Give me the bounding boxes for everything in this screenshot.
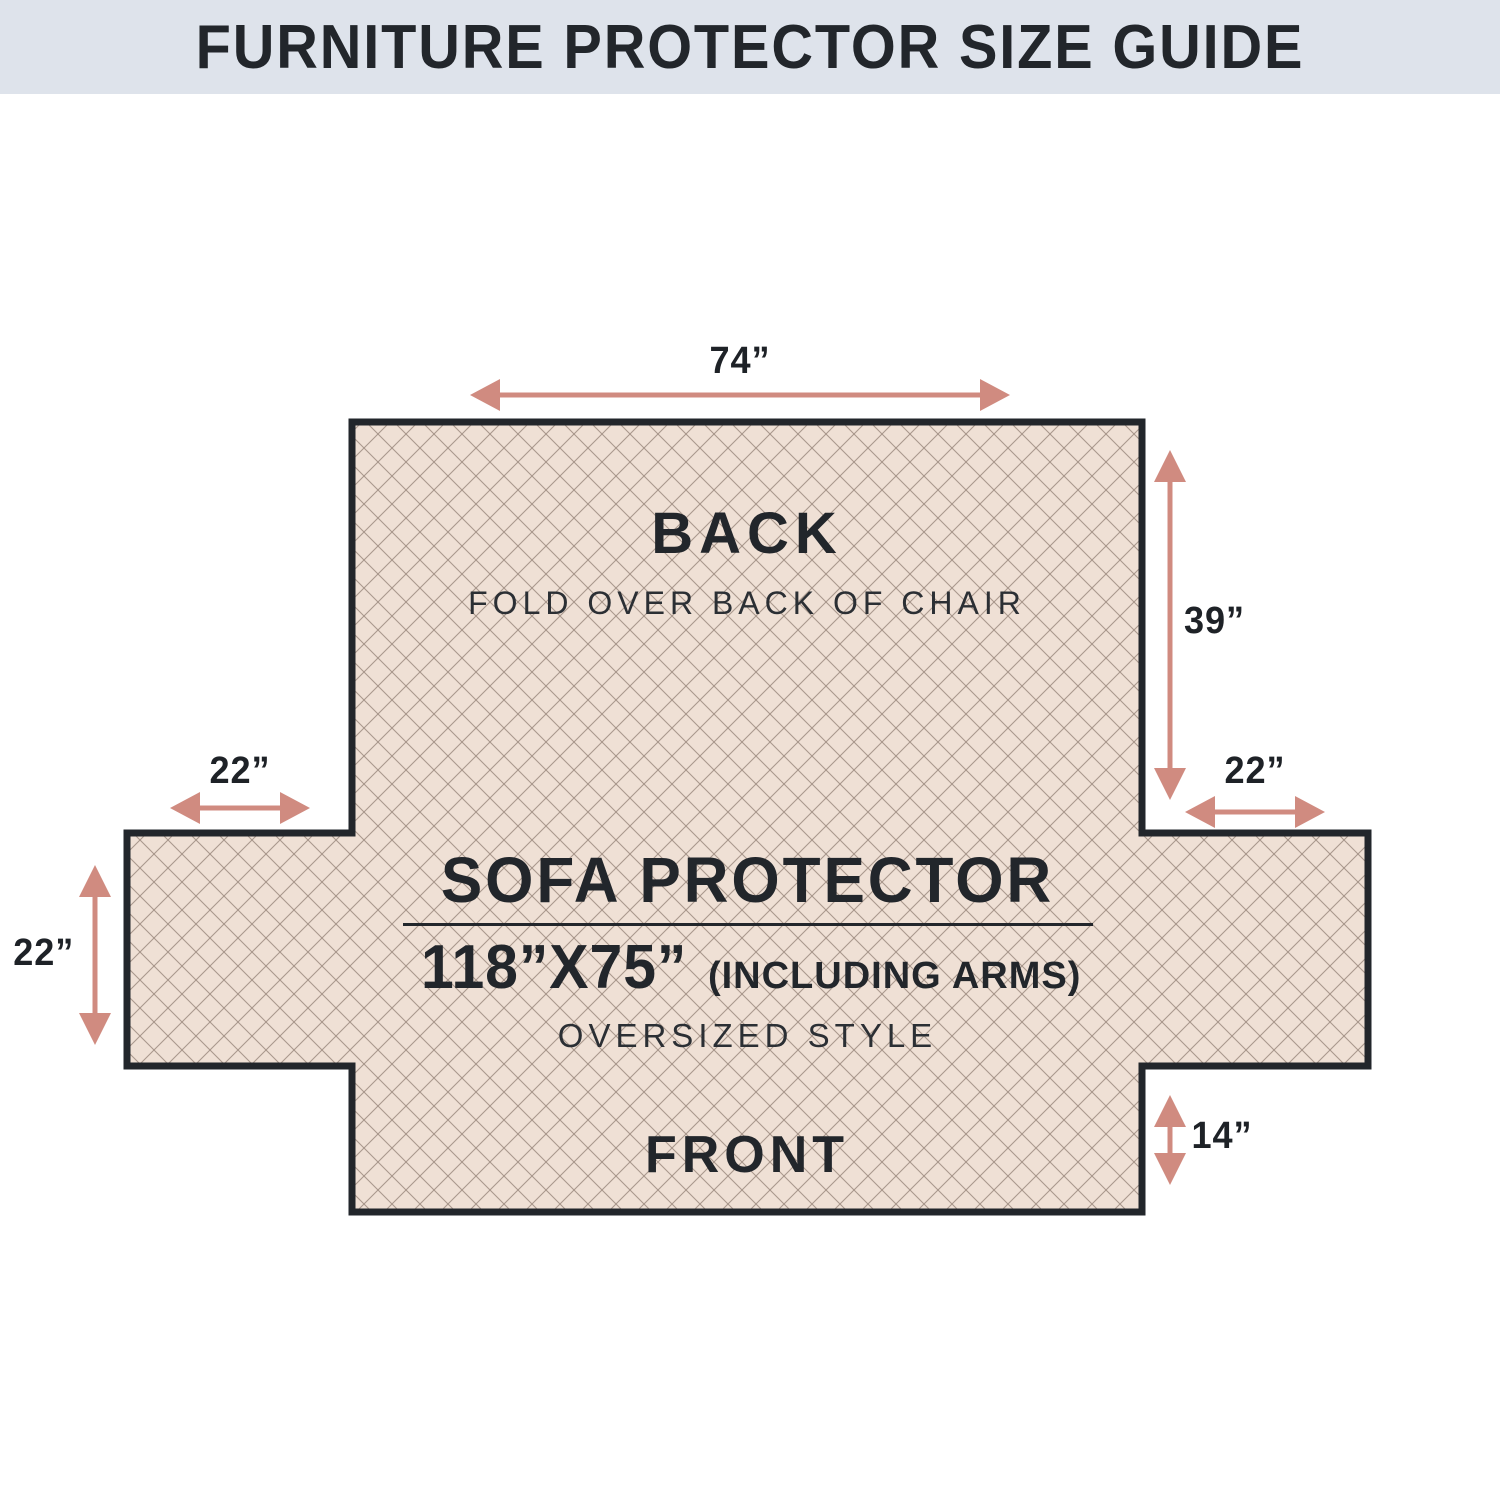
title-divider bbox=[403, 923, 1093, 926]
product-dimensions: 118”X75” bbox=[421, 932, 687, 1003]
protector-diagram: BACK FOLD OVER BACK OF CHAIR SOFA PROTEC… bbox=[0, 0, 1500, 1500]
center-panel-text: SOFA PROTECTOR 118”X75” (INCLUDING ARMS)… bbox=[127, 848, 1368, 1055]
dimension-label-arm-depth-left: 22” bbox=[13, 932, 137, 975]
dimension-label-back-height: 39” bbox=[1184, 600, 1336, 643]
product-name: SOFA PROTECTOR bbox=[146, 848, 1350, 913]
front-panel-heading: FRONT bbox=[352, 1125, 1142, 1185]
arrow-14 bbox=[1154, 1095, 1186, 1185]
product-style: OVERSIZED STYLE bbox=[127, 1017, 1368, 1055]
dimension-label-back-width: 74” bbox=[645, 340, 835, 383]
arrow-22-top-left bbox=[170, 792, 310, 824]
dimensions-note: (INCLUDING ARMS) bbox=[708, 955, 1081, 998]
arrow-74 bbox=[470, 379, 1010, 411]
arrow-39 bbox=[1154, 450, 1186, 800]
arrow-22-top-right bbox=[1185, 796, 1325, 828]
dimensions-line: 118”X75” (INCLUDING ARMS) bbox=[127, 932, 1368, 1003]
dimension-label-arm-width-right: 22” bbox=[1179, 750, 1331, 793]
back-panel-subheading: FOLD OVER BACK OF CHAIR bbox=[352, 585, 1142, 622]
dimension-label-arm-width-left: 22” bbox=[164, 750, 316, 793]
dimension-label-front-skirt: 14” bbox=[1192, 1115, 1325, 1158]
back-panel-heading: BACK bbox=[352, 500, 1142, 567]
